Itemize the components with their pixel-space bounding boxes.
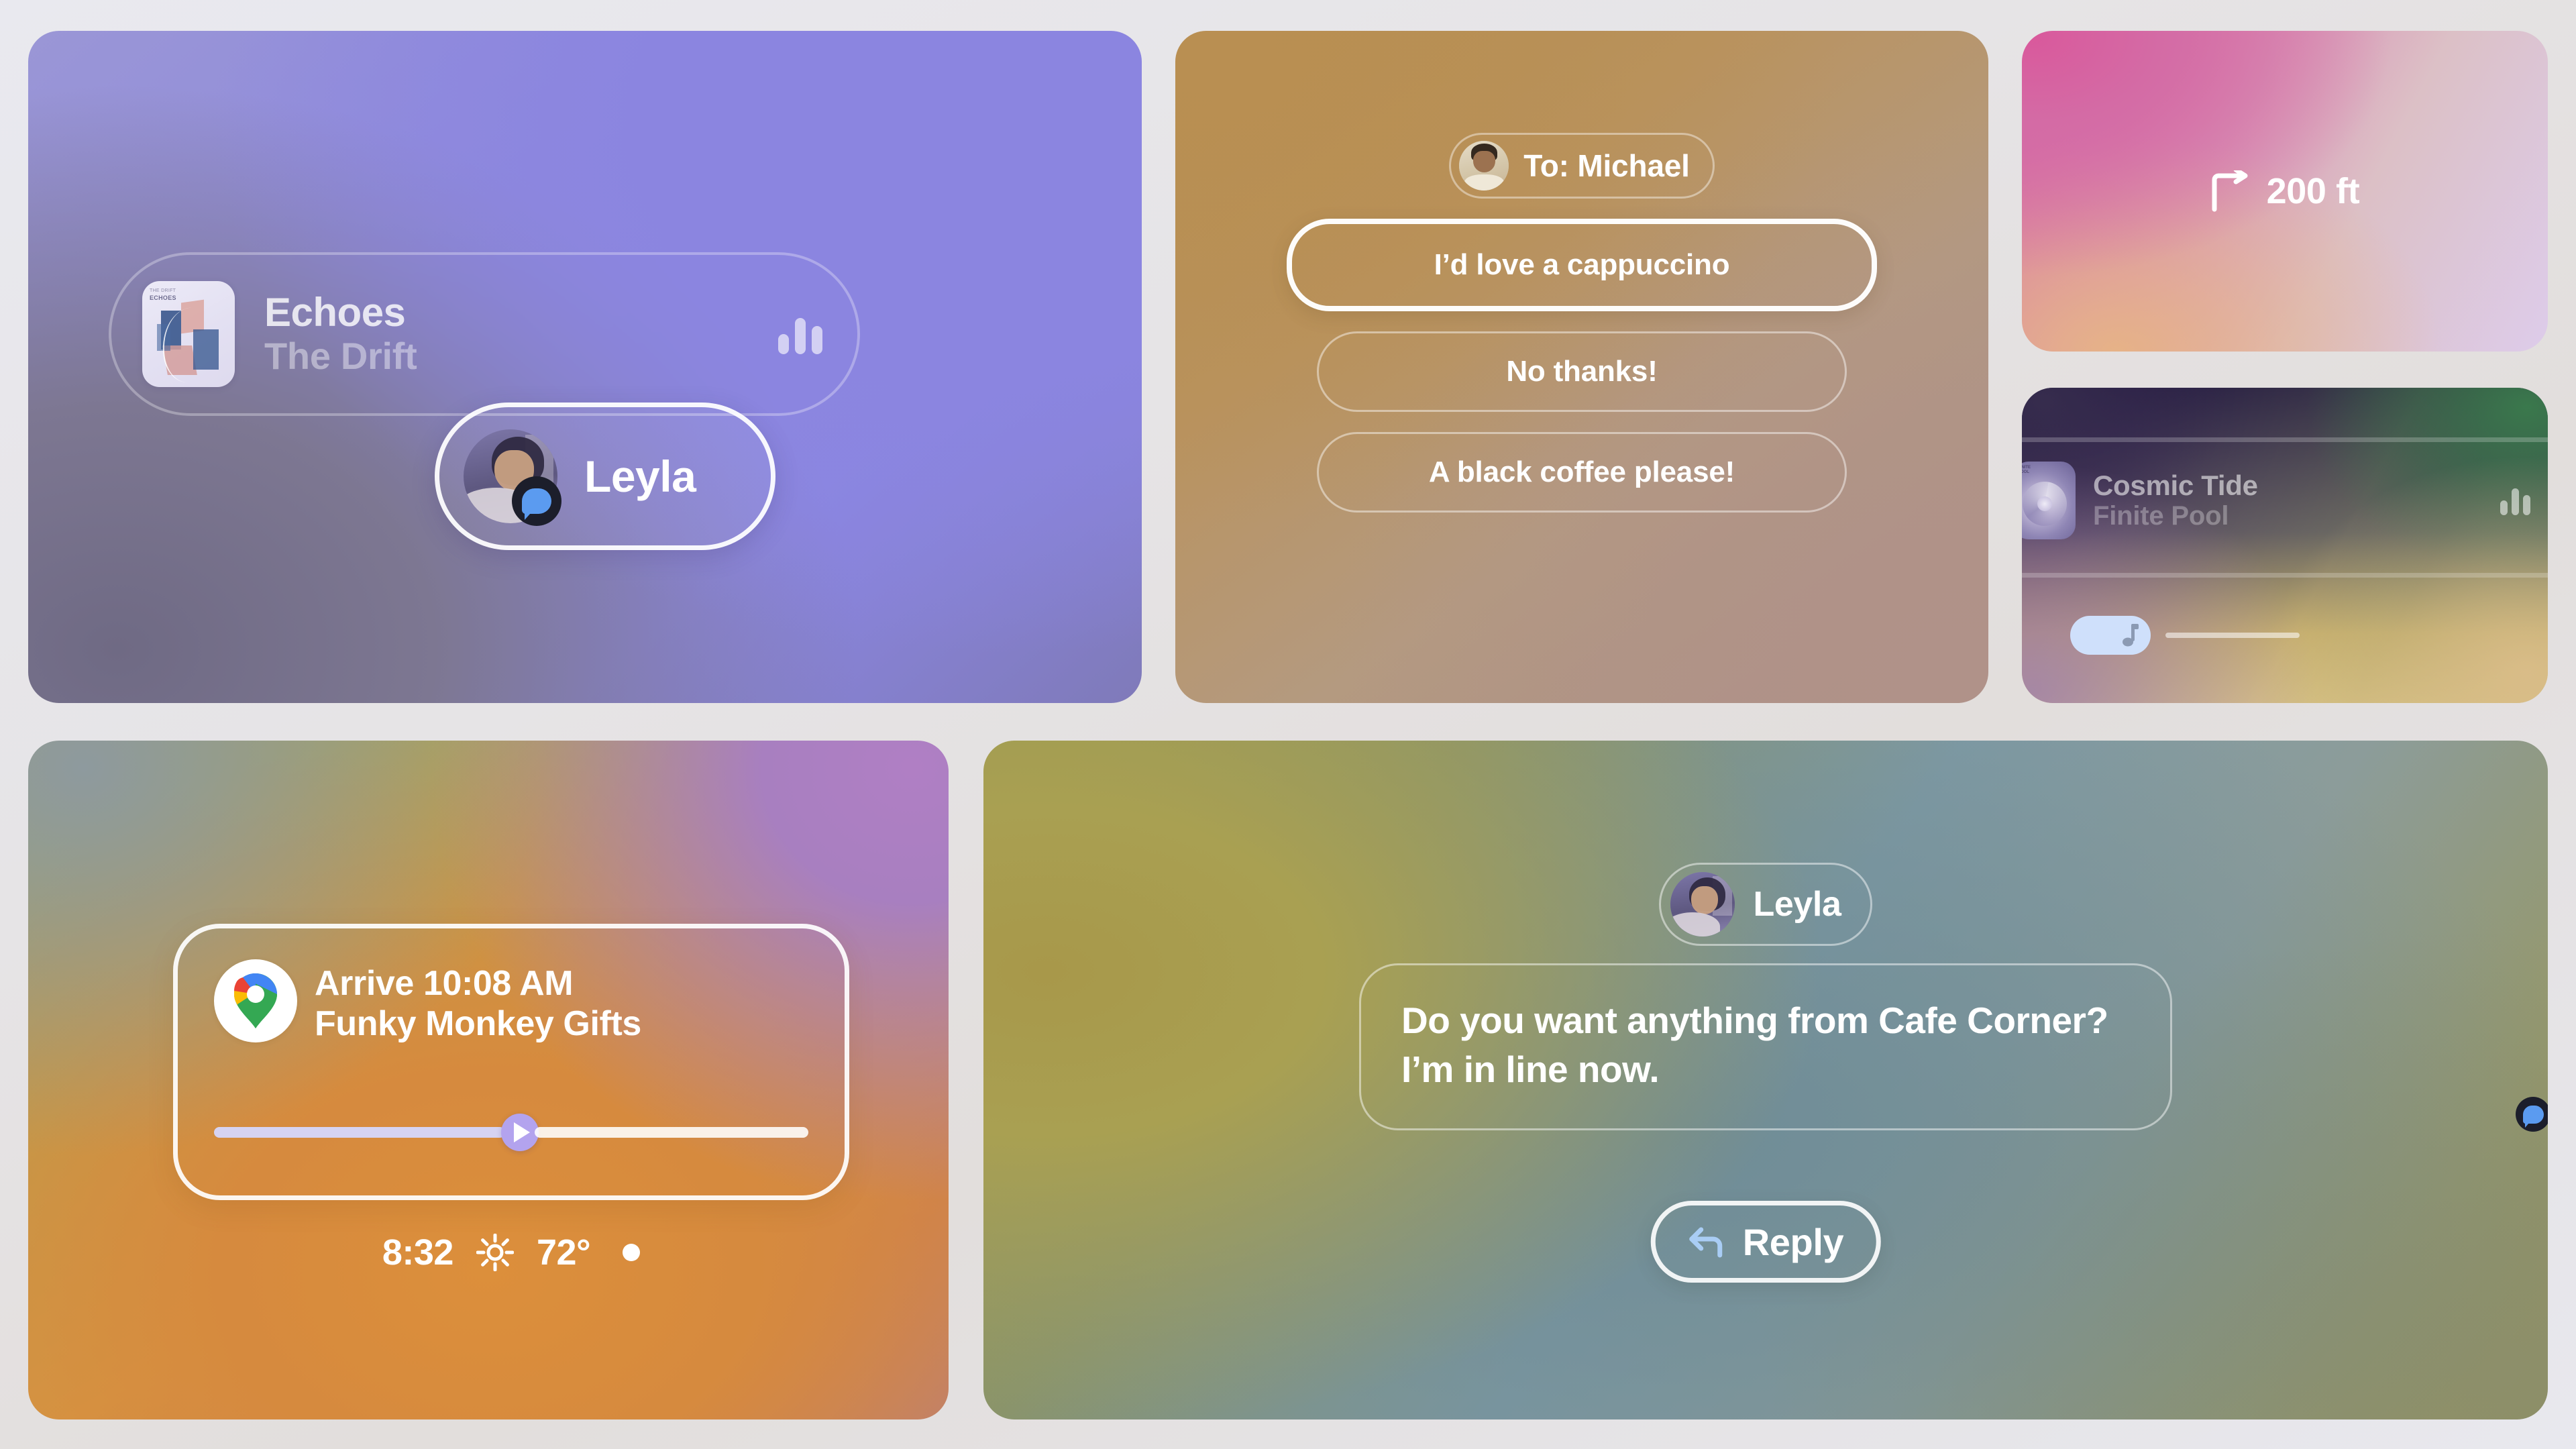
messages-bubble-icon	[512, 476, 561, 526]
card-now-playing-leyla[interactable]: THE DRIFT ECHOES Echoes The Drift	[28, 31, 1142, 703]
turn-right-icon	[2210, 170, 2251, 212]
avatar-michael	[1459, 141, 1509, 191]
track-artist: The Drift	[264, 335, 778, 377]
message-bubble[interactable]: Do you want anything from Cafe Corner? I…	[1359, 963, 2172, 1130]
now-playing-bar[interactable]: THE DRIFT ECHOES Echoes The Drift	[109, 252, 860, 416]
message-stack: Leyla Do you want anything from Cafe Cor…	[983, 863, 2548, 1130]
card-suggested-replies[interactable]: To: Michael I’d love a cappuccino No tha…	[1175, 31, 1988, 703]
music-pill-button[interactable]	[2070, 616, 2151, 655]
route-progress-bar[interactable]	[214, 1126, 808, 1139]
recipient-pill-michael[interactable]: To: Michael	[1449, 133, 1714, 199]
destination-name: Funky Monkey Gifts	[315, 1004, 641, 1044]
distance-row: 200 ft	[2022, 170, 2548, 212]
navigation-arrow-icon[interactable]	[501, 1114, 539, 1151]
reply-option-label: A black coffee please!	[1429, 455, 1735, 489]
sender-name: Leyla	[1754, 884, 1841, 924]
reply-option-label: I’d love a cappuccino	[1434, 248, 1730, 282]
reply-arrow-icon	[1688, 1226, 1725, 1258]
sender-pill-leyla[interactable]: Leyla	[1659, 863, 1873, 946]
reply-option-3[interactable]: A black coffee please!	[1317, 432, 1847, 513]
album-art-sublabel: THE DRIFT	[150, 288, 176, 294]
widget-canvas: THE DRIFT ECHOES Echoes The Drift	[0, 0, 2576, 1449]
maps-text: Arrive 10:08 AM Funky Monkey Gifts	[315, 959, 641, 1044]
cosmic-track-row[interactable]: FINITEPOOL Cosmic Tide Finite Pool	[2022, 462, 2530, 539]
maps-header: Arrive 10:08 AM Funky Monkey Gifts	[214, 959, 808, 1044]
equalizer-bars-icon	[2500, 486, 2530, 515]
card-gradient-overlay	[2022, 388, 2548, 703]
message-body: Do you want anything from Cafe Corner? I…	[1401, 996, 2130, 1093]
avatar-leyla	[1670, 872, 1735, 936]
album-art-text: THE DRIFT ECHOES	[150, 288, 176, 302]
album-art-label: ECHOES	[150, 294, 176, 301]
route-progress-remaining	[535, 1127, 808, 1138]
recipient-label: To: Michael	[1523, 148, 1689, 184]
sun-icon	[476, 1234, 514, 1271]
google-maps-pin-icon	[214, 959, 297, 1042]
maps-arrival-panel[interactable]: Arrive 10:08 AM Funky Monkey Gifts	[173, 924, 849, 1200]
reply-option-2[interactable]: No thanks!	[1317, 331, 1847, 412]
cosmic-player-row[interactable]	[2070, 616, 2508, 655]
equalizer-bars-icon	[778, 314, 822, 354]
avatar-wrapper	[464, 429, 557, 523]
reply-stack: To: Michael I’d love a cappuccino No tha…	[1175, 133, 1988, 513]
reply-option-label: No thanks!	[1506, 355, 1657, 388]
contact-pill-leyla[interactable]: Leyla	[435, 402, 775, 550]
clock-time: 8:32	[382, 1232, 453, 1273]
track-artist: Finite Pool	[2093, 501, 2500, 532]
avatar-wrapper	[1670, 872, 1735, 936]
distance-label: 200 ft	[2267, 170, 2360, 212]
card-incoming-message[interactable]: Leyla Do you want anything from Cafe Cor…	[983, 741, 2548, 1419]
card-navigation-distance[interactable]: 200 ft	[2022, 31, 2548, 352]
playback-progress-track[interactable]	[2165, 633, 2300, 638]
messages-bubble-icon	[2516, 1097, 2548, 1132]
reply-button[interactable]: Reply	[1651, 1201, 1881, 1283]
card-now-playing-cosmic-tide[interactable]: FINITEPOOL Cosmic Tide Finite Pool	[2022, 388, 2548, 703]
album-art-echoes: THE DRIFT ECHOES	[142, 281, 235, 387]
track-title: Echoes	[264, 291, 778, 334]
arrival-time: Arrive 10:08 AM	[315, 963, 641, 1004]
sheen-line	[2022, 573, 2548, 578]
album-art-cosmic-tide: FINITEPOOL	[2022, 462, 2076, 539]
status-dot	[623, 1244, 640, 1261]
now-playing-text: Echoes The Drift	[264, 291, 778, 376]
temperature: 72°	[537, 1232, 590, 1273]
status-row: 8:32 72°	[173, 1232, 849, 1273]
sheen-line	[2022, 437, 2548, 442]
cosmic-track-text: Cosmic Tide Finite Pool	[2093, 470, 2500, 532]
music-note-icon	[2123, 624, 2140, 647]
reply-button-label: Reply	[1743, 1220, 1844, 1264]
track-title: Cosmic Tide	[2093, 470, 2500, 501]
contact-name: Leyla	[584, 451, 696, 502]
route-progress-filled	[214, 1127, 505, 1138]
reply-option-1[interactable]: I’d love a cappuccino	[1287, 219, 1877, 311]
